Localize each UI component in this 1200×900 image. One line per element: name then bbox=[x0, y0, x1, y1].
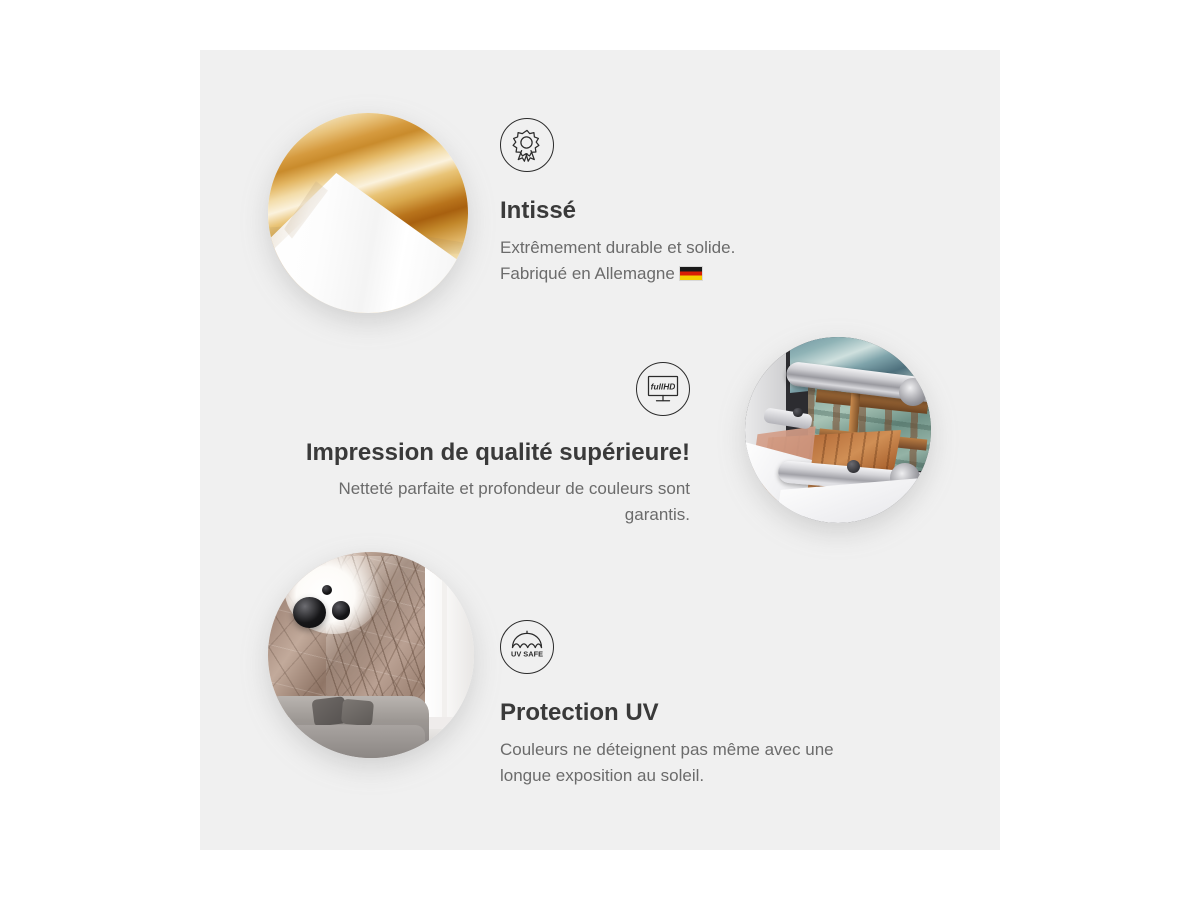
full-hd-monitor-icon: fullHD bbox=[636, 362, 690, 416]
feature-body-impression: Netteté parfaite et profondeur de couleu… bbox=[285, 476, 690, 527]
feature-block-impression: fullHD Impression de qualité supérieure!… bbox=[285, 362, 690, 527]
printing-machine-photo: Machine d'impression avec rouleaux impri… bbox=[745, 337, 931, 523]
feature-body-line: Extrêmement durable et solide. bbox=[500, 235, 920, 261]
full-hd-label: fullHD bbox=[651, 382, 676, 392]
living-room-mural-photo: Salon avec papier peint mural géométriqu… bbox=[268, 552, 474, 758]
feature-body-intisse: Extrêmement durable et solide. Fabriqué … bbox=[500, 235, 920, 286]
feature-title-intisse: Intissé bbox=[500, 196, 920, 226]
uv-safe-umbrella-icon: UV SAFE bbox=[500, 620, 554, 674]
german-flag-icon bbox=[679, 266, 703, 281]
award-rosette-icon bbox=[500, 118, 554, 172]
product-feature-infographic: Coin de papier peint intissé qui se déco… bbox=[0, 0, 1200, 900]
wallpaper-peeling-corner-photo: Coin de papier peint intissé qui se déco… bbox=[268, 113, 468, 313]
feature-block-intisse: Intissé Extrêmement durable et solide. F… bbox=[500, 118, 920, 286]
feature-title-impression: Impression de qualité supérieure! bbox=[285, 438, 690, 468]
feature-body-line: Fabriqué en Allemagne bbox=[500, 261, 920, 287]
feature-body-line: longue exposition au soleil. bbox=[500, 763, 920, 789]
feature-body-line: garantis. bbox=[285, 502, 690, 528]
feature-body-line: Netteté parfaite et profondeur de couleu… bbox=[285, 476, 690, 502]
uv-safe-label: UV SAFE bbox=[511, 649, 543, 658]
feature-title-protection-uv: Protection UV bbox=[500, 698, 920, 728]
feature-block-protection-uv: UV SAFE Protection UV Couleurs ne déteig… bbox=[500, 620, 920, 788]
feature-body-protection-uv: Couleurs ne déteignent pas même avec une… bbox=[500, 737, 920, 788]
feature-body-text: Fabriqué en Allemagne bbox=[500, 264, 675, 283]
feature-body-line: Couleurs ne déteignent pas même avec une bbox=[500, 737, 920, 763]
